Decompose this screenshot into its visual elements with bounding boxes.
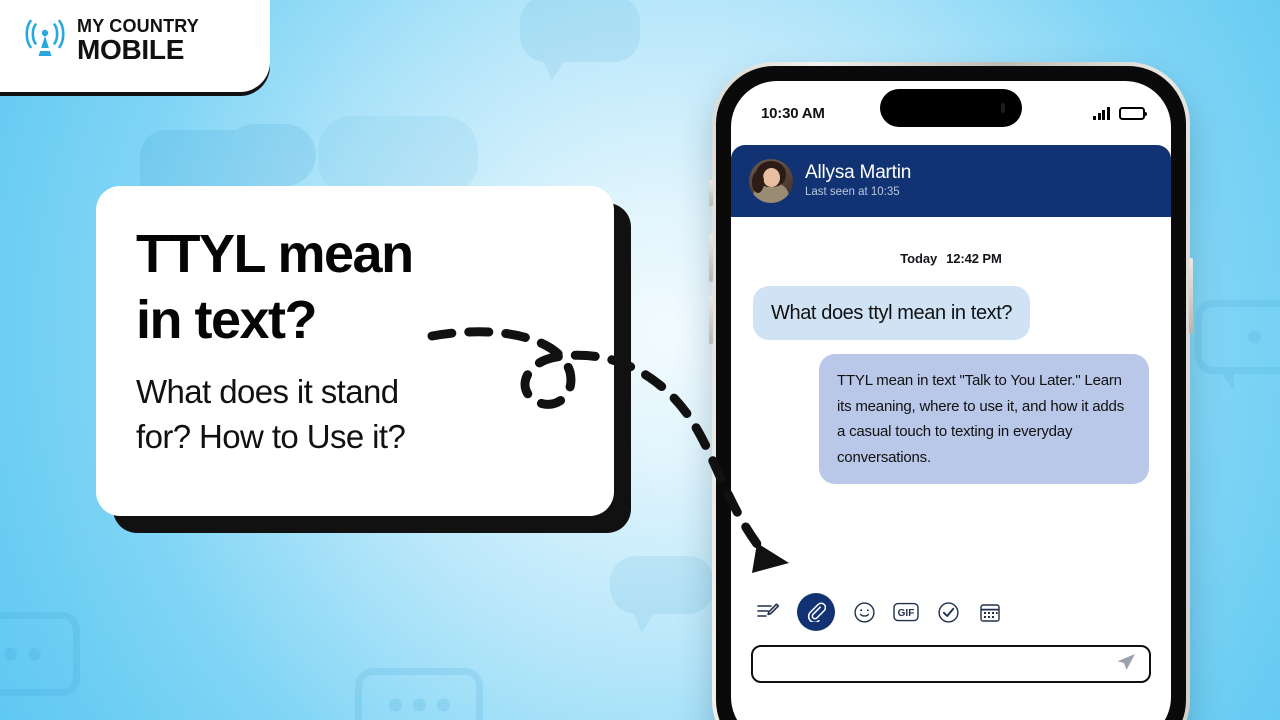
day-time: 12:42 PM xyxy=(946,251,1002,266)
check-circle-icon[interactable] xyxy=(935,599,961,625)
avatar[interactable] xyxy=(749,159,793,203)
power-button[interactable] xyxy=(1189,258,1193,334)
day-label: Today xyxy=(900,251,937,266)
message-input-wrapper[interactable] xyxy=(751,645,1151,683)
phone-screen: 10:30 AM xyxy=(731,81,1171,720)
bg-bubble-dots-3 xyxy=(0,612,80,696)
front-camera-icon xyxy=(1001,103,1005,113)
phone-frame: 10:30 AM xyxy=(712,62,1190,720)
paperclip-icon[interactable] xyxy=(797,593,835,631)
message-bubble-incoming: What does ttyl mean in text? xyxy=(753,286,1030,340)
volume-up-button[interactable] xyxy=(709,234,713,282)
battery-icon xyxy=(1119,107,1145,120)
card-subheadline: What does it stand for? How to Use it? xyxy=(136,370,574,460)
smiley-icon[interactable] xyxy=(851,599,877,625)
cellular-signal-icon xyxy=(1093,106,1110,120)
send-paper-plane-icon[interactable] xyxy=(1115,651,1137,678)
phone-mockup: 10:30 AM xyxy=(712,62,1190,720)
bg-bubble-4 xyxy=(520,0,640,62)
calendar-icon[interactable] xyxy=(977,599,1003,625)
message-row-incoming: What does ttyl mean in text? xyxy=(753,286,1149,340)
phone-bezel: 10:30 AM xyxy=(716,66,1186,720)
volume-down-button[interactable] xyxy=(709,296,713,344)
brand-logo-badge: MY COUNTRY MOBILE xyxy=(0,0,270,92)
bg-bubble-6 xyxy=(610,556,714,614)
info-card: TTYL mean in text? What does it stand fo… xyxy=(96,186,614,516)
message-list: Today12:42 PM What does ttyl mean in tex… xyxy=(731,217,1171,583)
chat-header[interactable]: Allysa Martin Last seen at 10:35 xyxy=(731,145,1171,217)
chat-input-row xyxy=(731,639,1171,683)
message-input[interactable] xyxy=(765,656,1115,672)
compose-note-icon[interactable] xyxy=(755,599,781,625)
brand-line-2: MOBILE xyxy=(77,36,199,64)
gif-icon[interactable]: GIF xyxy=(893,599,919,625)
message-row-outgoing: TTYL mean in text "Talk to You Later." L… xyxy=(753,354,1149,484)
bg-bubble-dots-2 xyxy=(355,668,483,720)
card-headline: TTYL mean in text? xyxy=(136,222,574,354)
bg-bubble-5 xyxy=(1195,300,1280,374)
chat-toolbar: GIF xyxy=(731,583,1171,639)
status-indicators xyxy=(1093,106,1145,120)
message-bubble-outgoing: TTYL mean in text "Talk to You Later." L… xyxy=(819,354,1149,484)
dynamic-island xyxy=(880,89,1022,127)
signal-tower-icon xyxy=(22,15,68,66)
svg-text:GIF: GIF xyxy=(898,608,915,619)
contact-name: Allysa Martin xyxy=(805,162,911,184)
status-bar: 10:30 AM xyxy=(731,81,1171,139)
day-divider: Today12:42 PM xyxy=(753,251,1149,266)
status-time: 10:30 AM xyxy=(761,105,825,122)
bg-bubble-7 xyxy=(318,116,478,196)
brand-line-1: MY COUNTRY xyxy=(77,17,199,35)
contact-status: Last seen at 10:35 xyxy=(805,186,911,199)
mute-switch[interactable] xyxy=(709,180,713,206)
poster-canvas: MY COUNTRY MOBILE TTYL mean in text? Wha… xyxy=(0,0,1280,720)
